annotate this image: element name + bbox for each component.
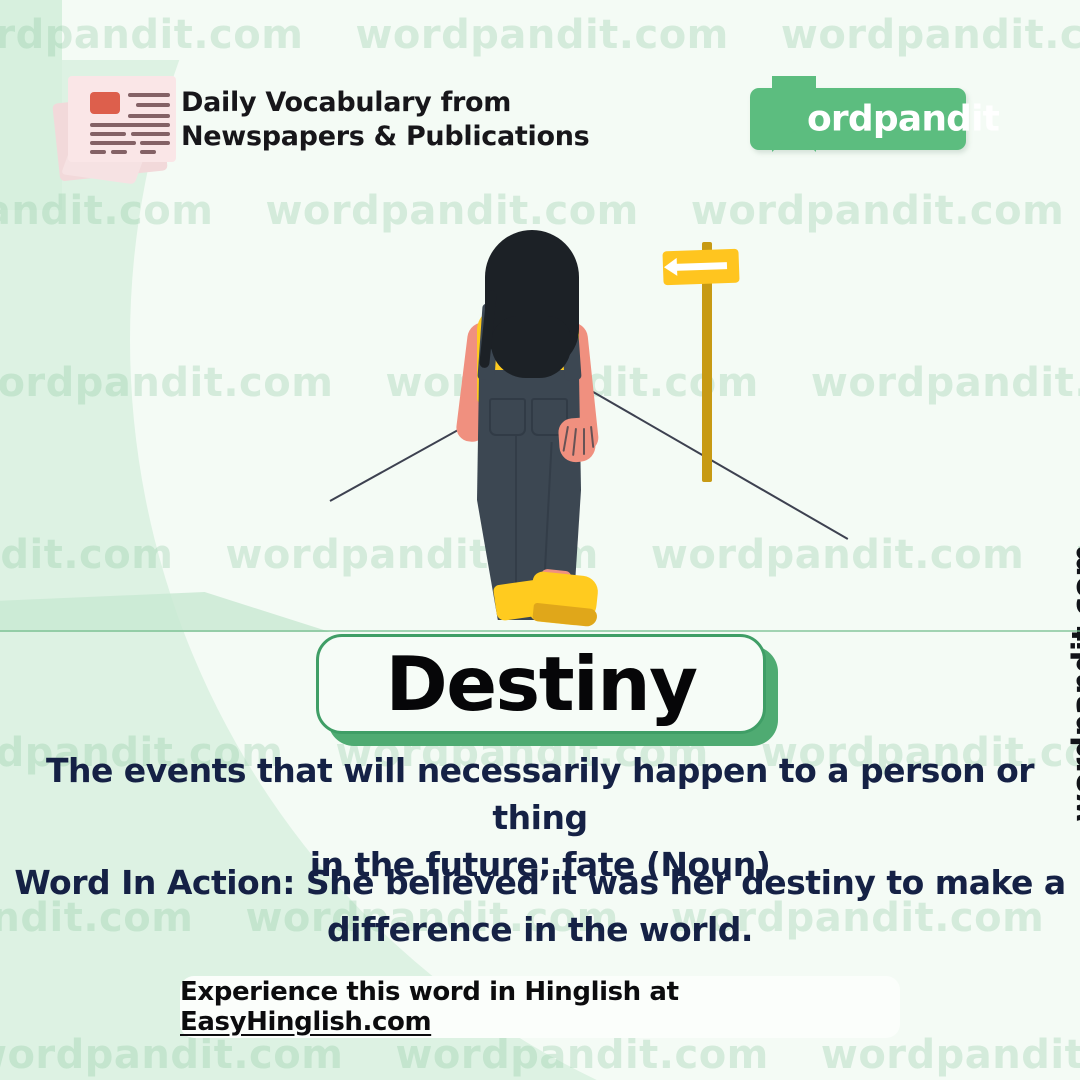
hair-lower	[491, 316, 571, 378]
definition-line1: The events that will necessarily happen …	[0, 748, 1080, 842]
signpost-board	[662, 249, 739, 286]
word-in-action-line1: Word In Action: She believed it was her …	[0, 860, 1080, 907]
footer-text: Experience this word in Hinglish at Easy…	[180, 977, 900, 1037]
wordpandit-logo[interactable]: ordpandit	[750, 88, 966, 150]
road-line-right	[588, 388, 849, 540]
left-arrow-icon	[671, 262, 727, 271]
word-banner-box: Destiny	[316, 634, 766, 734]
page-title: Daily Vocabulary from Newspapers & Publi…	[181, 86, 601, 154]
ground-shade	[0, 592, 330, 632]
word-in-action-line2: difference in the world.	[0, 907, 1080, 954]
header-title-line2: Newspapers & Publications	[181, 121, 589, 152]
trouser-seam-left	[515, 436, 517, 586]
word-banner: Destiny	[316, 634, 776, 744]
footer-bar: Experience this word in Hinglish at Easy…	[180, 976, 900, 1038]
vocabulary-word: Destiny	[385, 647, 696, 722]
word-in-action-text: Word In Action: She believed it was her …	[0, 860, 1080, 954]
walking-person-figure	[455, 230, 625, 640]
header: Daily Vocabulary from Newspapers & Publi…	[0, 0, 1080, 190]
vocabulary-card: wordpandit.comwordpandit.comwordpandit.c…	[0, 0, 1080, 1080]
footer-prefix: Experience this word in Hinglish at	[180, 977, 679, 1007]
brand-label: ordpandit	[807, 99, 999, 140]
pocket-left	[489, 398, 526, 436]
easyhinglish-link[interactable]: EasyHinglish.com	[180, 1007, 431, 1037]
illustration	[0, 220, 1080, 660]
newspaper-icon	[54, 72, 182, 180]
finger-3	[583, 428, 585, 455]
header-title-line1: Daily Vocabulary from	[181, 87, 511, 118]
